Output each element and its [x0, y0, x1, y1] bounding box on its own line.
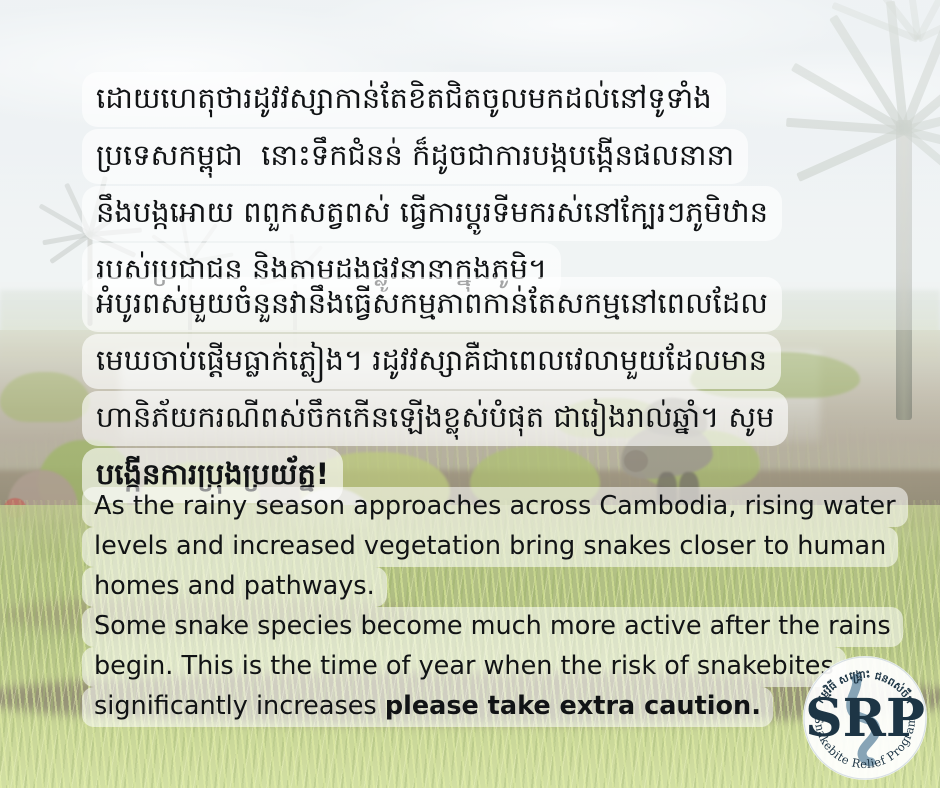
english-line-4: Some snake species become much more acti…	[82, 607, 903, 647]
english-line-6: significantly increases please take extr…	[82, 687, 773, 727]
khmer-paragraph-2: អំបូរពស់មួយចំនួនវានឹងធ្វើសកម្មភាពកាន់តែស…	[82, 277, 872, 505]
english-line-6-prefix: significantly increases	[94, 691, 385, 721]
english-line-1: As the rainy season approaches across Ca…	[82, 487, 908, 527]
khmer-p2-line-1: អំបូរពស់មួយចំនួនវានឹងធ្វើសកម្មភាពកាន់តែស…	[82, 277, 782, 332]
poster-root: ដោយហេតុថារដូវវស្សាកាន់តែខិតជិតចូលមកដល់នៅ…	[0, 0, 940, 788]
khmer-p1-line-1: ដោយហេតុថារដូវវស្សាកាន់តែខិតជិតចូលមកដល់នៅ…	[82, 72, 726, 127]
poster-content: ដោយហេតុថារដូវវស្សាកាន់តែខិតជិតចូលមកដល់នៅ…	[0, 0, 940, 788]
khmer-p1-line-3: នឹងបង្កអោយ ពពួកសត្វពស់ ធ្វើការប្តូរទីមករ…	[82, 186, 782, 241]
english-paragraph: As the rainy season approaches across Ca…	[82, 487, 822, 727]
srp-logo[interactable]: SRP កម្មវិធី សង្គ្រោះ ជនពស់ចឹក Snakebite…	[797, 650, 933, 786]
khmer-p2-line-2: មេឃចាប់ផ្តើមធ្លាក់ភ្លៀង។ រដូវវស្សាគឺជាពេ…	[82, 334, 781, 389]
english-line-3: homes and pathways.	[82, 567, 387, 607]
khmer-p1-line-2: ប្រទេសកម្ពុជា នោះទឹកជំនន់ ក៏ដូចជាការបង្ក…	[82, 129, 748, 184]
english-line-2: levels and increased vegetation bring sn…	[82, 527, 898, 567]
khmer-paragraph-1: ដោយហេតុថារដូវវស្សាកាន់តែខិតជិតចូលមកដល់នៅ…	[82, 72, 872, 300]
english-caution-emphasis: please take extra caution.	[385, 691, 761, 721]
khmer-p2-line-3: ហានិភ័យករណីពស់ចឹកកើនឡើងខ្លុស់បំផុត ជារៀង…	[82, 391, 788, 446]
english-line-5: begin. This is the time of year when the…	[82, 647, 846, 687]
